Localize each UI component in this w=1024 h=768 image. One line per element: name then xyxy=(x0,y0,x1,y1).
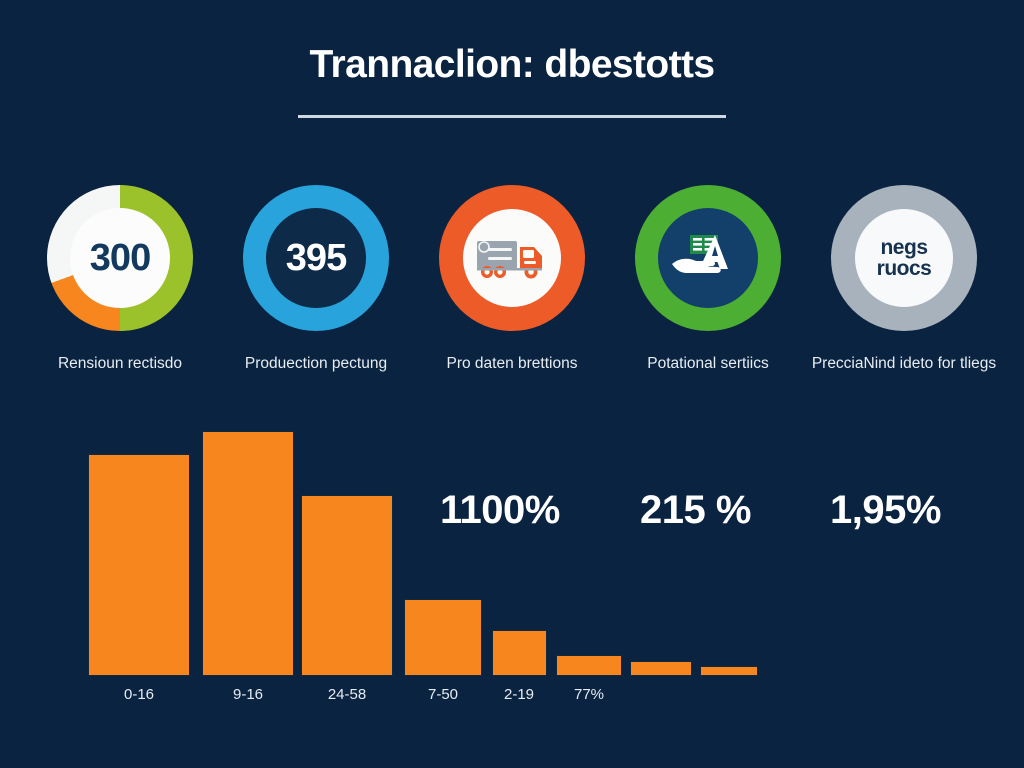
kpi-ring-4 xyxy=(635,185,781,331)
bar xyxy=(700,666,758,676)
kpi-value-5-line1: negs xyxy=(880,237,927,258)
stat-value-3: 1,95% xyxy=(830,488,980,533)
bar xyxy=(630,661,692,676)
bar xyxy=(88,454,190,676)
bar xyxy=(492,630,547,676)
axis-tick-label: 77% xyxy=(574,686,604,703)
bar-chart-x-axis: 0-169-1624-587-502-1977% xyxy=(88,686,788,710)
stat-value-2: 215 % xyxy=(640,488,830,533)
kpi-card-1[interactable]: 300 Rensioun rectisdo xyxy=(22,185,218,375)
kpi-value-1: 300 xyxy=(90,237,150,280)
delivery-truck-icon xyxy=(474,233,550,283)
kpi-caption-5: PrecciaNind ideto for tliegs xyxy=(809,353,999,375)
icon-hub xyxy=(658,208,758,308)
donut-ring-icon: 395 xyxy=(243,185,389,331)
bar xyxy=(404,599,482,676)
donut-hub: 300 xyxy=(70,208,170,308)
icon-hub xyxy=(463,209,561,307)
kpi-ring-3 xyxy=(439,185,585,331)
axis-tick-label: 2-19 xyxy=(504,686,534,703)
kpi-caption-2: Produection pectung xyxy=(221,353,411,375)
hand-holding-money-icon xyxy=(668,229,748,287)
stat-value-1: 1100% xyxy=(440,488,640,533)
kpi-caption-1: Rensioun rectisdo xyxy=(25,353,215,375)
donut-hub: 395 xyxy=(266,208,366,308)
bar-chart xyxy=(88,418,768,676)
donut-gauge-icon: 300 xyxy=(47,185,193,331)
kpi-caption-3: Pro daten brettions xyxy=(417,353,607,375)
text-badge-icon: negs ruocs xyxy=(831,185,977,331)
kpi-caption-4: Potational sertiics xyxy=(613,353,803,375)
text-hub: negs ruocs xyxy=(855,209,953,307)
kpi-card-2[interactable]: 395 Produection pectung xyxy=(218,185,414,375)
bar xyxy=(556,655,622,676)
axis-tick-label: 7-50 xyxy=(428,686,458,703)
kpi-value-5-line2: ruocs xyxy=(877,258,932,279)
kpi-card-5[interactable]: negs ruocs PrecciaNind ideto for tliegs xyxy=(806,185,1002,375)
axis-tick-label: 24-58 xyxy=(328,686,366,703)
axis-tick-label: 0-16 xyxy=(124,686,154,703)
kpi-card-3[interactable]: Pro daten brettions xyxy=(414,185,610,375)
stats-row: 1100% 215 % 1,95% xyxy=(440,488,980,533)
title-block: Trannaclion: dbestotts xyxy=(0,44,1024,118)
kpi-value-2: 395 xyxy=(286,237,346,280)
axis-tick-label: 9-16 xyxy=(233,686,263,703)
page-title: Trannaclion: dbestotts xyxy=(0,44,1024,87)
bar xyxy=(202,431,294,676)
kpi-circle-row: 300 Rensioun rectisdo 395 Produection pe… xyxy=(22,185,1002,375)
kpi-card-4[interactable]: Potational sertiics xyxy=(610,185,806,375)
bar xyxy=(301,495,393,676)
title-divider xyxy=(298,115,726,118)
